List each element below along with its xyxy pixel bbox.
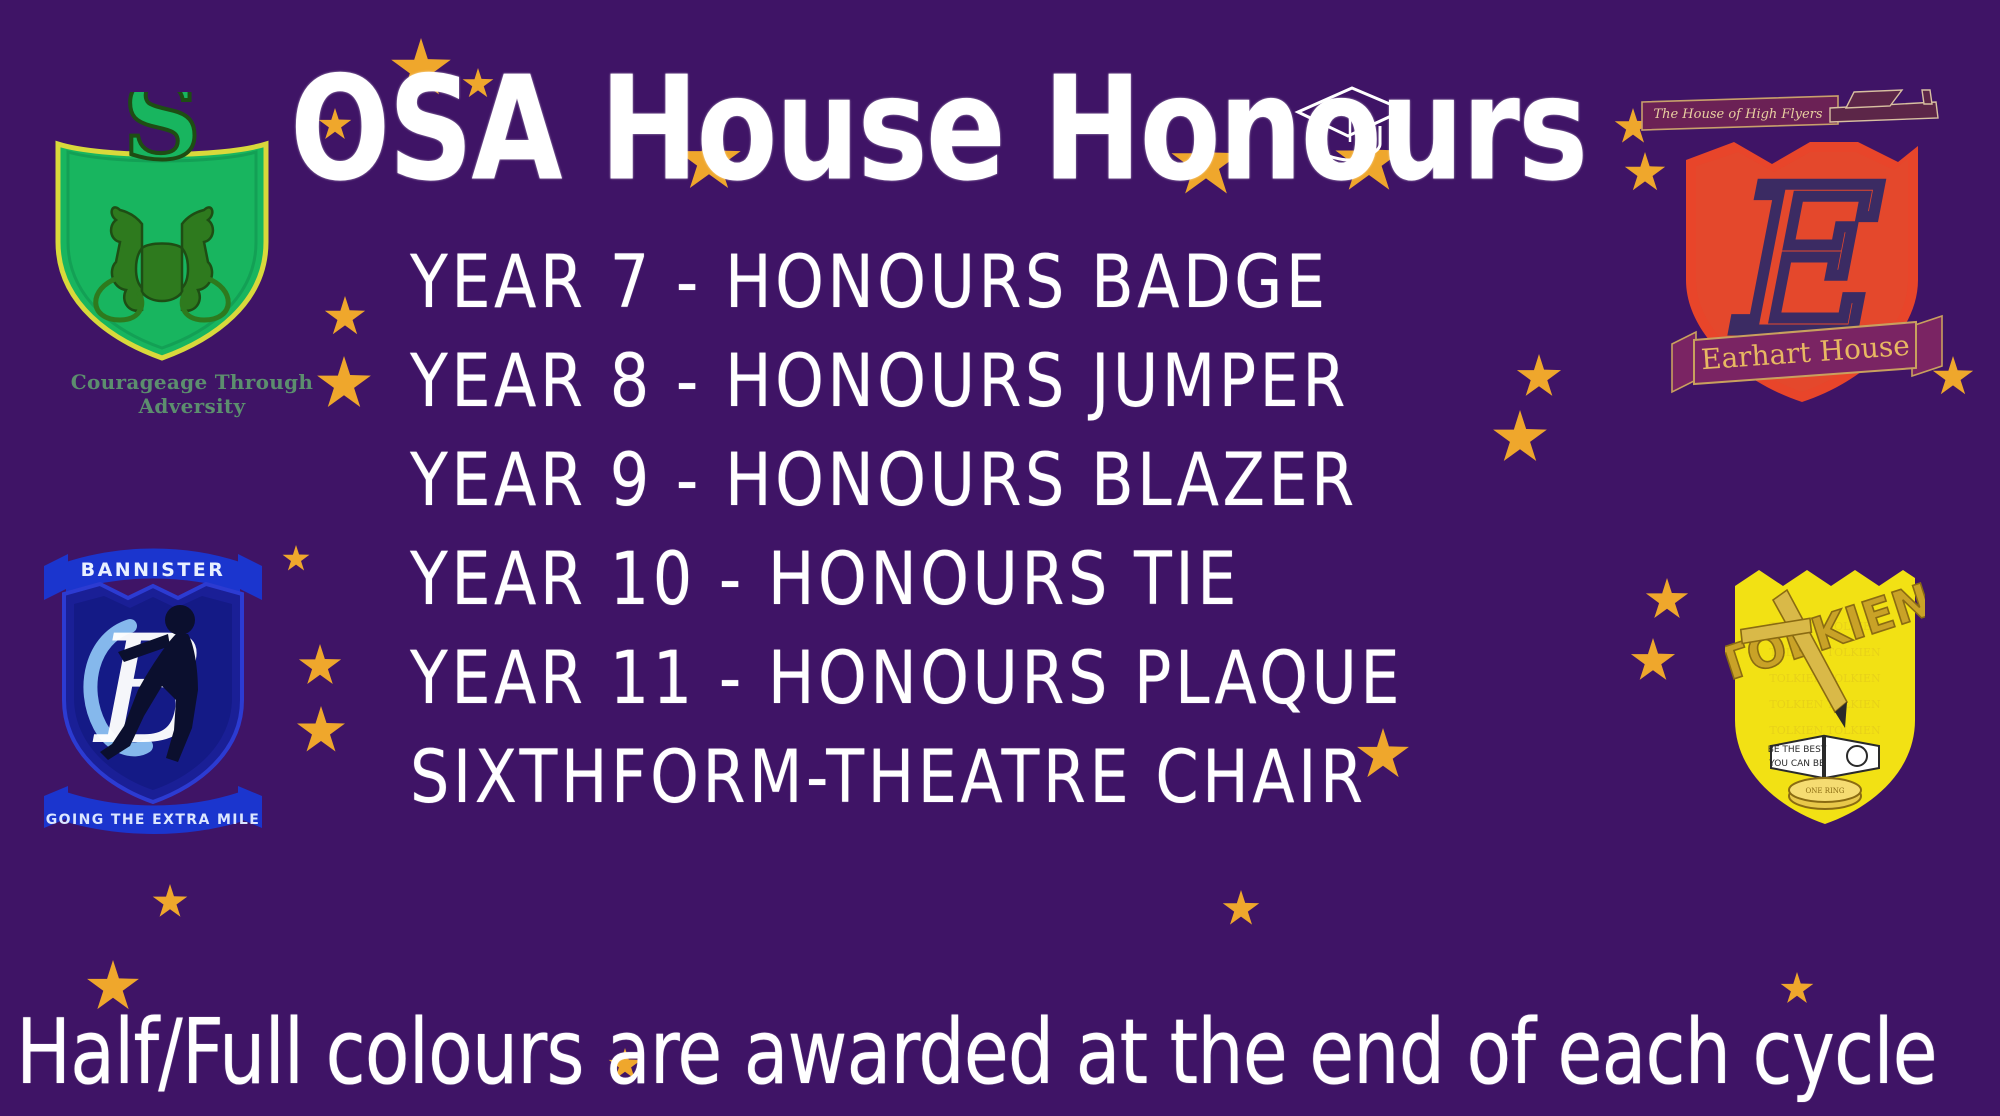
- svg-text:ONE RING: ONE RING: [1806, 787, 1845, 795]
- house-badge-bannister: BANNISTER B GOING THE EXTRA MILE: [38, 540, 268, 840]
- svg-text:S: S: [123, 92, 201, 184]
- house-badge-tolkien: TOLKIEN TOLKIEN TOLKIEN TOLKIEN TOLKIEN …: [1725, 560, 1925, 830]
- poster-canvas: OSA House Honours YEAR 7 - HONOURS BADGE…: [0, 0, 2000, 1116]
- star-icon: [298, 644, 342, 688]
- star-icon: [1222, 890, 1260, 928]
- page-title: OSA House Honours: [290, 48, 1670, 209]
- star-icon: [1630, 638, 1676, 684]
- house-motto-sankey: Courageage Through Adversity: [42, 370, 342, 418]
- svg-text:YOU CAN BE: YOU CAN BE: [1768, 759, 1825, 769]
- star-icon: [324, 296, 366, 338]
- star-icon: [282, 545, 310, 573]
- house-badge-earhart: E Earhart House: [1660, 130, 1950, 410]
- star-icon: [296, 706, 346, 756]
- svg-text:The House of High Flyers: The House of High Flyers: [1653, 107, 1822, 122]
- svg-text:BE THE BEST: BE THE BEST: [1768, 745, 1827, 755]
- svg-text:BANNISTER: BANNISTER: [81, 559, 226, 581]
- graduation-cap-icon: [1290, 82, 1410, 172]
- star-icon: [1645, 578, 1689, 622]
- svg-text:TOLKIEN TOLKIEN: TOLKIEN TOLKIEN: [1769, 698, 1881, 711]
- svg-text:GOING THE EXTRA MILE: GOING THE EXTRA MILE: [46, 812, 260, 828]
- house-badge-sankey: S Courageage Through Adversity: [42, 92, 282, 362]
- star-icon: [152, 884, 188, 920]
- awards-list: YEAR 7 - HONOURS BADGE YEAR 8 - HONOURS …: [410, 232, 1530, 826]
- list-item: SIXTHFORM-THEATRE CHAIR: [410, 718, 1530, 835]
- page-title-wrap: OSA House Honours: [290, 48, 1670, 188]
- tagline: Half/Full colours are awarded at the end…: [16, 1000, 1976, 1105]
